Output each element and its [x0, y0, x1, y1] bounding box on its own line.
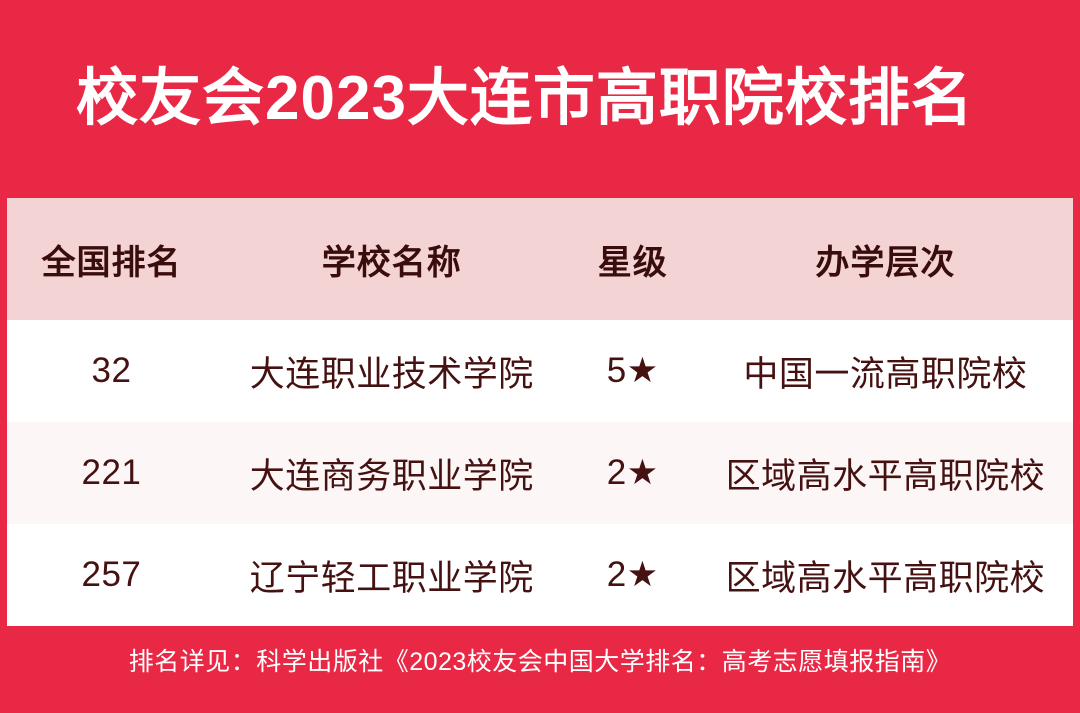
table-row: 257 辽宁轻工职业学院 2★ 区域高水平高职院校	[7, 524, 1073, 626]
page-title: 校友会2023大连市高职院校排名	[76, 68, 974, 130]
cell-star-rating: 5★	[568, 320, 698, 422]
cell-star-rating: 2★	[568, 422, 698, 524]
column-header-star-rating: 星级	[568, 198, 698, 320]
footer-band: 排名详见：科学出版社《2023校友会中国大学排名：高考志愿填报指南》	[0, 626, 1080, 713]
cell-school-name: 辽宁轻工职业学院	[216, 524, 568, 626]
cell-tier: 区域高水平高职院校	[698, 422, 1073, 524]
cell-school-name: 大连商务职业学院	[216, 422, 568, 524]
cell-school-name: 大连职业技术学院	[216, 320, 568, 422]
cell-rank: 32	[7, 320, 216, 422]
ranking-table: 全国排名 学校名称 星级 办学层次 32 大连职业技术学院 5★ 中国一流高职院…	[7, 198, 1073, 626]
cell-star-rating: 2★	[568, 524, 698, 626]
column-header-school-name: 学校名称	[216, 198, 568, 320]
ranking-table-container: 全国排名 学校名称 星级 办学层次 32 大连职业技术学院 5★ 中国一流高职院…	[7, 198, 1073, 626]
cell-rank: 221	[7, 422, 216, 524]
ranking-poster: 校友会2023大连市高职院校排名 全国排名 学校名称 星级 办学层次 32	[0, 0, 1080, 713]
cell-rank: 257	[7, 524, 216, 626]
table-row: 221 大连商务职业学院 2★ 区域高水平高职院校	[7, 422, 1073, 524]
cell-tier: 中国一流高职院校	[698, 320, 1073, 422]
title-band: 校友会2023大连市高职院校排名	[0, 0, 1080, 198]
table-header: 全国排名 学校名称 星级 办学层次	[7, 198, 1073, 320]
table-header-row: 全国排名 学校名称 星级 办学层次	[7, 198, 1073, 320]
table-row: 32 大连职业技术学院 5★ 中国一流高职院校	[7, 320, 1073, 422]
table-body: 32 大连职业技术学院 5★ 中国一流高职院校 221 大连商务职业学院 2★ …	[7, 320, 1073, 626]
column-header-rank: 全国排名	[7, 198, 216, 320]
source-note: 排名详见：科学出版社《2023校友会中国大学排名：高考志愿填报指南》	[129, 642, 952, 678]
column-header-tier: 办学层次	[698, 198, 1073, 320]
cell-tier: 区域高水平高职院校	[698, 524, 1073, 626]
